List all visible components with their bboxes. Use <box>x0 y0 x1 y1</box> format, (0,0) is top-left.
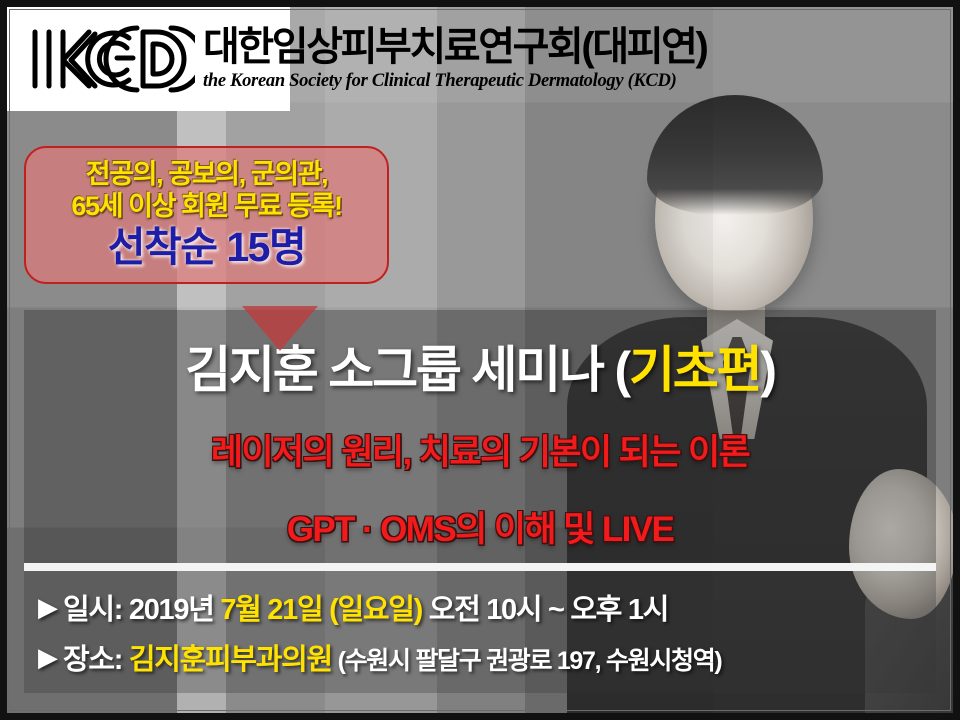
seminar-subtitle-2: GPT · OMS의 이해 및 LIVE <box>287 501 674 552</box>
callout-limited-seats: 선착순 15명 <box>36 225 377 270</box>
event-location-row: ▶ 장소: 김지훈피부과의원 (수원시 팔달구 권광로 197, 수원시청역) <box>38 636 936 678</box>
play-triangle-icon: ▶ <box>38 644 58 670</box>
datetime-post: 오전 10시 ~ 오후 1시 <box>422 594 668 626</box>
event-datetime-row: ▶ 일시: 2019년 7월 21일 (일요일) 오전 10시 ~ 오후 1시 <box>38 586 936 628</box>
callout-bubble: 전공의, 공보의, 군의관, 65세 이상 회원 무료 등록! 선착순 15명 <box>24 146 389 284</box>
seminar-title-paren-open: ( <box>614 342 628 398</box>
play-triangle-icon: ▶ <box>38 594 58 620</box>
callout-tail-icon <box>242 306 318 351</box>
datetime-label: 일시: <box>63 594 129 626</box>
seminar-title-accent: 기초편 <box>629 342 760 398</box>
event-location-text: 장소: 김지훈피부과의원 (수원시 팔달구 권광로 197, 수원시청역) <box>63 636 721 678</box>
event-datetime-text: 일시: 2019년 7월 21일 (일요일) 오전 10시 ~ 오후 1시 <box>63 586 668 628</box>
seminar-title-paren-close: ) <box>760 342 774 398</box>
seminar-poster: 대한임상피부치료연구회(대피연) the Korean Society for … <box>0 0 960 720</box>
datetime-pre: 2019년 <box>129 594 220 626</box>
datetime-highlight: 7월 21일 (일요일) <box>220 594 422 626</box>
location-label: 장소: <box>63 644 129 676</box>
poster-header: 대한임상피부치료연구회(대피연) the Korean Society for … <box>7 7 953 111</box>
panel-separator <box>24 563 936 571</box>
location-highlight: 김지훈피부과의원 <box>129 644 332 676</box>
main-title-panel: 김지훈 소그룹 세미나 (기초편) 레이저의 원리, 치료의 기본이 되는 이론… <box>24 310 936 563</box>
header-titles: 대한임상피부치료연구회(대피연) the Korean Society for … <box>203 27 706 91</box>
location-post: (수원시 팔달구 권광로 197, 수원시청역) <box>332 647 722 675</box>
seminar-subtitle-1: 레이저의 원리, 치료의 기본이 되는 이론 <box>211 424 749 475</box>
callout-line-2: 65세 이상 회원 무료 등록! <box>36 191 377 223</box>
organization-name-english: the Korean Society for Clinical Therapeu… <box>203 72 706 91</box>
kcd-logo-icon <box>25 20 195 98</box>
organization-name-korean: 대한임상피부치료연구회(대피연) <box>203 27 706 67</box>
free-registration-callout: 전공의, 공보의, 군의관, 65세 이상 회원 무료 등록! 선착순 15명 <box>24 146 389 284</box>
callout-line-1: 전공의, 공보의, 군의관, <box>36 159 377 191</box>
event-details-panel: ▶ 일시: 2019년 7월 21일 (일요일) 오전 10시 ~ 오후 1시 … <box>24 571 936 693</box>
